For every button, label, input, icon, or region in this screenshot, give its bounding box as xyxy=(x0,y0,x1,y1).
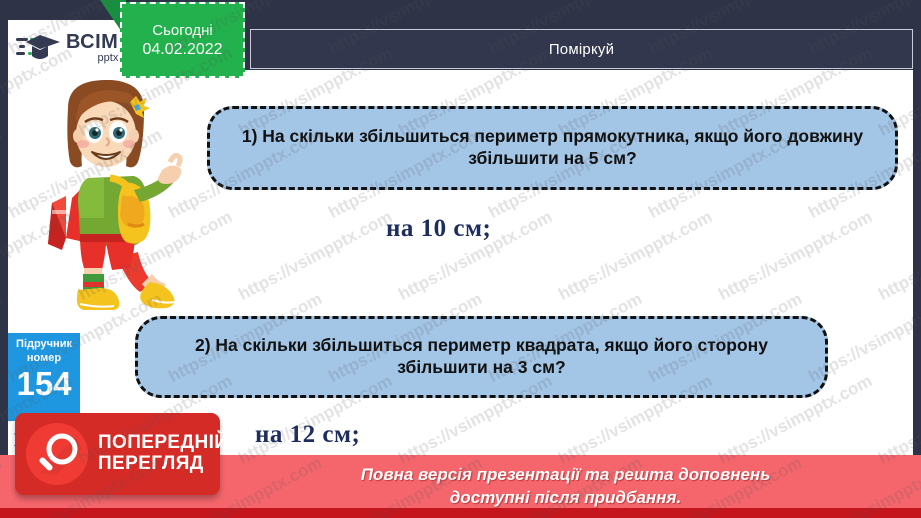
watermark-text: https://vsimpptx.com xyxy=(0,0,6,59)
textbook-label-line1: Підручник xyxy=(8,338,80,352)
schoolgirl-illustration xyxy=(22,78,197,310)
preview-badge[interactable]: ПОПЕРЕДНІЙ ПЕРЕГЛЯД xyxy=(15,413,220,495)
date-banner: Сьогодні 04.02.2022 xyxy=(120,2,245,78)
purchase-notice-line1: Повна версія презентації та решта доповн… xyxy=(361,464,771,486)
watermark-text: https://vsimpptx.com xyxy=(0,125,6,223)
slide-root: Поміркуй ВСІМ pptx Сьогодні 04.02.2022 xyxy=(0,0,921,518)
date-label: Сьогодні xyxy=(152,22,213,39)
question-text-1: 1) На скільки збільшиться периметр прямо… xyxy=(226,126,879,170)
question-text-2: 2) На скільки збільшиться периметр квадр… xyxy=(154,335,809,379)
brand-suffix: pptx xyxy=(66,53,118,64)
textbook-number: 154 xyxy=(8,367,80,402)
graduation-cap-icon xyxy=(16,31,60,65)
answer-text-1: на 10 см; xyxy=(386,215,491,243)
preview-badge-line2: ПЕРЕГЛЯД xyxy=(98,454,228,475)
bottom-accent-strip xyxy=(0,508,921,518)
answer-text-2: на 12 см; xyxy=(255,421,360,449)
textbook-label-line2: номер xyxy=(8,352,80,366)
purchase-notice-line2: доступні після придбання. xyxy=(361,487,771,509)
purchase-notice-text: Повна версія презентації та решта доповн… xyxy=(361,464,771,508)
header-bar: Поміркуй xyxy=(250,29,913,69)
preview-badge-text: ПОПЕРЕДНІЙ ПЕРЕГЛЯД xyxy=(98,433,228,474)
watermark-text: https://vsimpptx.com xyxy=(0,289,6,387)
page-title: Поміркуй xyxy=(549,41,614,58)
question-box-2: 2) На скільки збільшиться периметр квадр… xyxy=(135,316,828,398)
question-box-1: 1) На скільки збільшиться периметр прямо… xyxy=(207,106,898,190)
magnifier-icon xyxy=(26,423,88,485)
textbook-number-badge: Підручник номер 154 xyxy=(8,333,80,421)
preview-badge-line1: ПОПЕРЕДНІЙ xyxy=(98,433,228,454)
date-value: 04.02.2022 xyxy=(142,41,222,59)
